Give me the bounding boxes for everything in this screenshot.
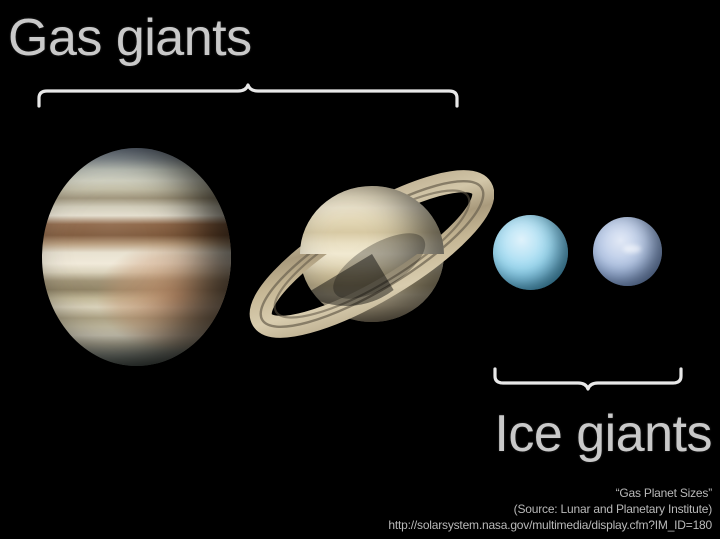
ice-giants-heading: Ice giants [494,404,712,464]
attribution-source: (Source: Lunar and Planetary Institute) [388,501,712,517]
attribution-block: “Gas Planet Sizes” (Source: Lunar and Pl… [388,485,712,533]
planet-uranus [493,215,568,290]
saturn-rings-front [232,100,494,400]
ice-giants-brace [492,366,684,397]
planet-saturn [232,100,494,400]
attribution-title: “Gas Planet Sizes” [388,485,712,501]
ice-giants-brace-icon [492,366,684,392]
gas-giants-heading: Gas giants [8,8,252,68]
attribution-url: http://solarsystem.nasa.gov/multimedia/d… [388,517,712,533]
solar-system-slide: Gas giants [0,0,720,539]
planet-jupiter [42,148,231,366]
planet-neptune [593,217,662,286]
